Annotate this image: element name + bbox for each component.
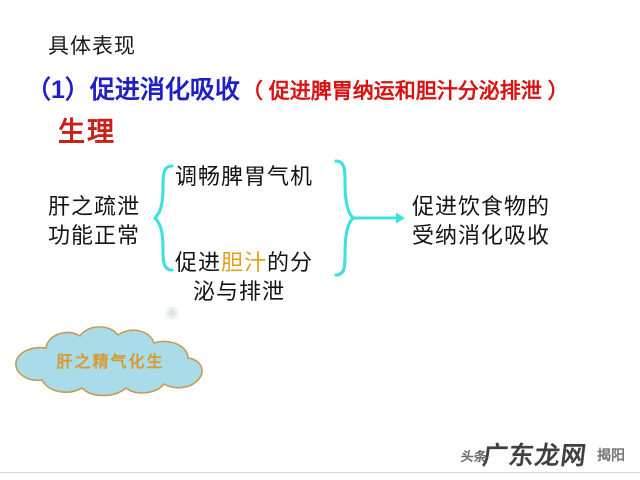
thought-bubble-small (166, 307, 179, 320)
cloud-label: 肝之精气化生 (8, 348, 213, 372)
node-left-line2: 功能正常 (48, 221, 140, 250)
node-right: 促进饮食物的 受纳消化吸收 (412, 192, 550, 251)
node-middle-top: 调畅脾胃气机 (175, 162, 313, 191)
section-title-parenthetical: （ 促进脾胃纳运和胆汁分泌排泄 ） (242, 80, 569, 103)
node-right-line1: 促进饮食物的 (412, 192, 550, 221)
node-middle-bottom-line2: 泌与排泄 (175, 277, 313, 306)
node-middle-bottom-suffix: 的分 (267, 250, 313, 275)
bottom-divider (0, 472, 640, 473)
node-left: 肝之疏泄 功能正常 (48, 192, 140, 250)
node-middle-bottom-line1: 促进胆汁的分 (175, 248, 313, 277)
section-title-main: （1）促进消化吸收 (26, 76, 240, 104)
cloud-callout: 肝之精气化生 (8, 322, 213, 400)
thought-bubble-inner (169, 310, 176, 317)
section-subtitle: 生理 (58, 110, 116, 149)
node-middle-bottom-highlight: 胆汁 (221, 250, 267, 275)
watermark-part2: 广东龙网 (481, 436, 589, 472)
watermark-part3: 揭阳 (597, 445, 625, 465)
node-middle-bottom: 促进胆汁的分 泌与排泄 (175, 248, 313, 306)
right-arrow (352, 213, 405, 224)
node-left-line1: 肝之疏泄 (48, 192, 140, 221)
page-heading: 具体表现 (48, 30, 136, 60)
section-title: （1）促进消化吸收（ 促进脾胃纳运和胆汁分泌排泄 ） (26, 70, 569, 106)
node-middle-bottom-prefix: 促进 (175, 250, 221, 275)
node-right-line2: 受纳消化吸收 (412, 221, 550, 250)
watermark: 头条 广东龙网 揭阳 (455, 434, 635, 474)
right-brace (336, 161, 353, 275)
slide-canvas: 具体表现 （1）促进消化吸收（ 促进脾胃纳运和胆汁分泌排泄 ） 生理 肝之疏泄 … (0, 0, 640, 480)
left-brace (155, 166, 172, 270)
